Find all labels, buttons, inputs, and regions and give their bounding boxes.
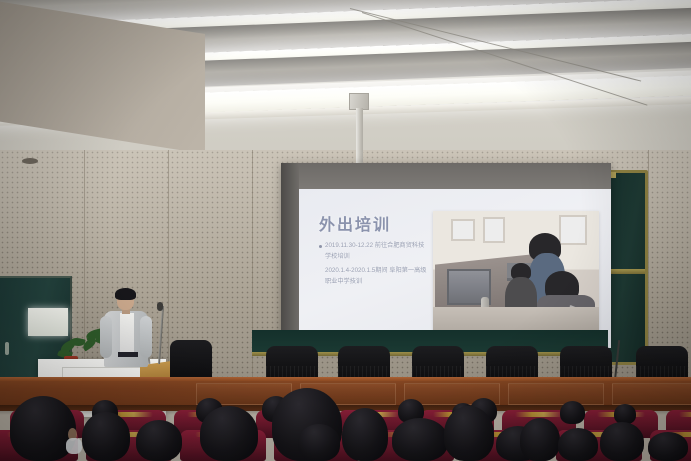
audience-member [10, 396, 76, 461]
presenter-belt [118, 352, 138, 357]
audience-member [342, 408, 388, 461]
photo-window [559, 215, 587, 245]
door-window [28, 308, 68, 336]
presenter-arm [100, 316, 112, 358]
projection-screen: 外出培训 2019.11.30-12.22 前往合肥商贸科技学校培训 2020.… [281, 163, 611, 348]
audience-member [298, 424, 340, 461]
stage-front-panel [508, 383, 604, 405]
audience-member [560, 401, 585, 424]
photo-window [451, 219, 475, 241]
presenter-hair [115, 288, 136, 300]
auditorium-scene: 外出培训 2019.11.30-12.22 前往合肥商贸科技学校培训 2020.… [0, 0, 691, 461]
audience-member [392, 418, 448, 461]
audience-member [200, 406, 258, 461]
audience-member [558, 428, 598, 461]
panel-rail [607, 269, 645, 274]
screen-left-border [281, 163, 299, 348]
stage-side-chair[interactable] [170, 340, 212, 382]
screen-top-border [281, 163, 611, 189]
microphone-head-icon [157, 302, 163, 311]
audience-member [600, 422, 644, 461]
face-mask [66, 438, 82, 454]
presentation-slide: 外出培训 2019.11.30-12.22 前往合肥商贸科技学校培训 2020.… [299, 189, 611, 348]
presenter-shirt [120, 313, 134, 353]
projector-drop-pole [356, 108, 363, 170]
ceiling [0, 0, 691, 160]
audience-member [136, 420, 182, 461]
audience-member [82, 412, 130, 461]
stage-front-highlight [0, 377, 691, 381]
presenter-arm [140, 316, 152, 358]
ceiling-speaker-icon [22, 158, 38, 164]
slide-bullet-list: 2019.11.30-12.22 前往合肥商贸科技学校培训 2020.1.4-2… [319, 241, 427, 290]
audience-member [648, 432, 688, 461]
slide-bullet-item: 2020.1.4-2020.1.5期间 阜阳第一高级职业中学技训 [325, 266, 427, 288]
training-photo [433, 211, 599, 333]
slide-title: 外出培训 [319, 211, 391, 235]
slide-bullet-item: 2019.11.30-12.22 前往合肥商贸科技学校培训 [319, 241, 427, 263]
bullet-marker-icon [319, 245, 322, 248]
audience-member [520, 418, 560, 461]
audience-member [614, 404, 636, 424]
slide-bullet-text: 2019.11.30-12.22 前往合肥商贸科技学校培训 [325, 241, 427, 263]
stage-front-panel [612, 383, 691, 405]
photo-window [483, 217, 505, 243]
slide-bullet-text: 2020.1.4-2020.1.5期间 阜阳第一高级职业中学技训 [325, 266, 427, 288]
audience-member [444, 406, 494, 461]
